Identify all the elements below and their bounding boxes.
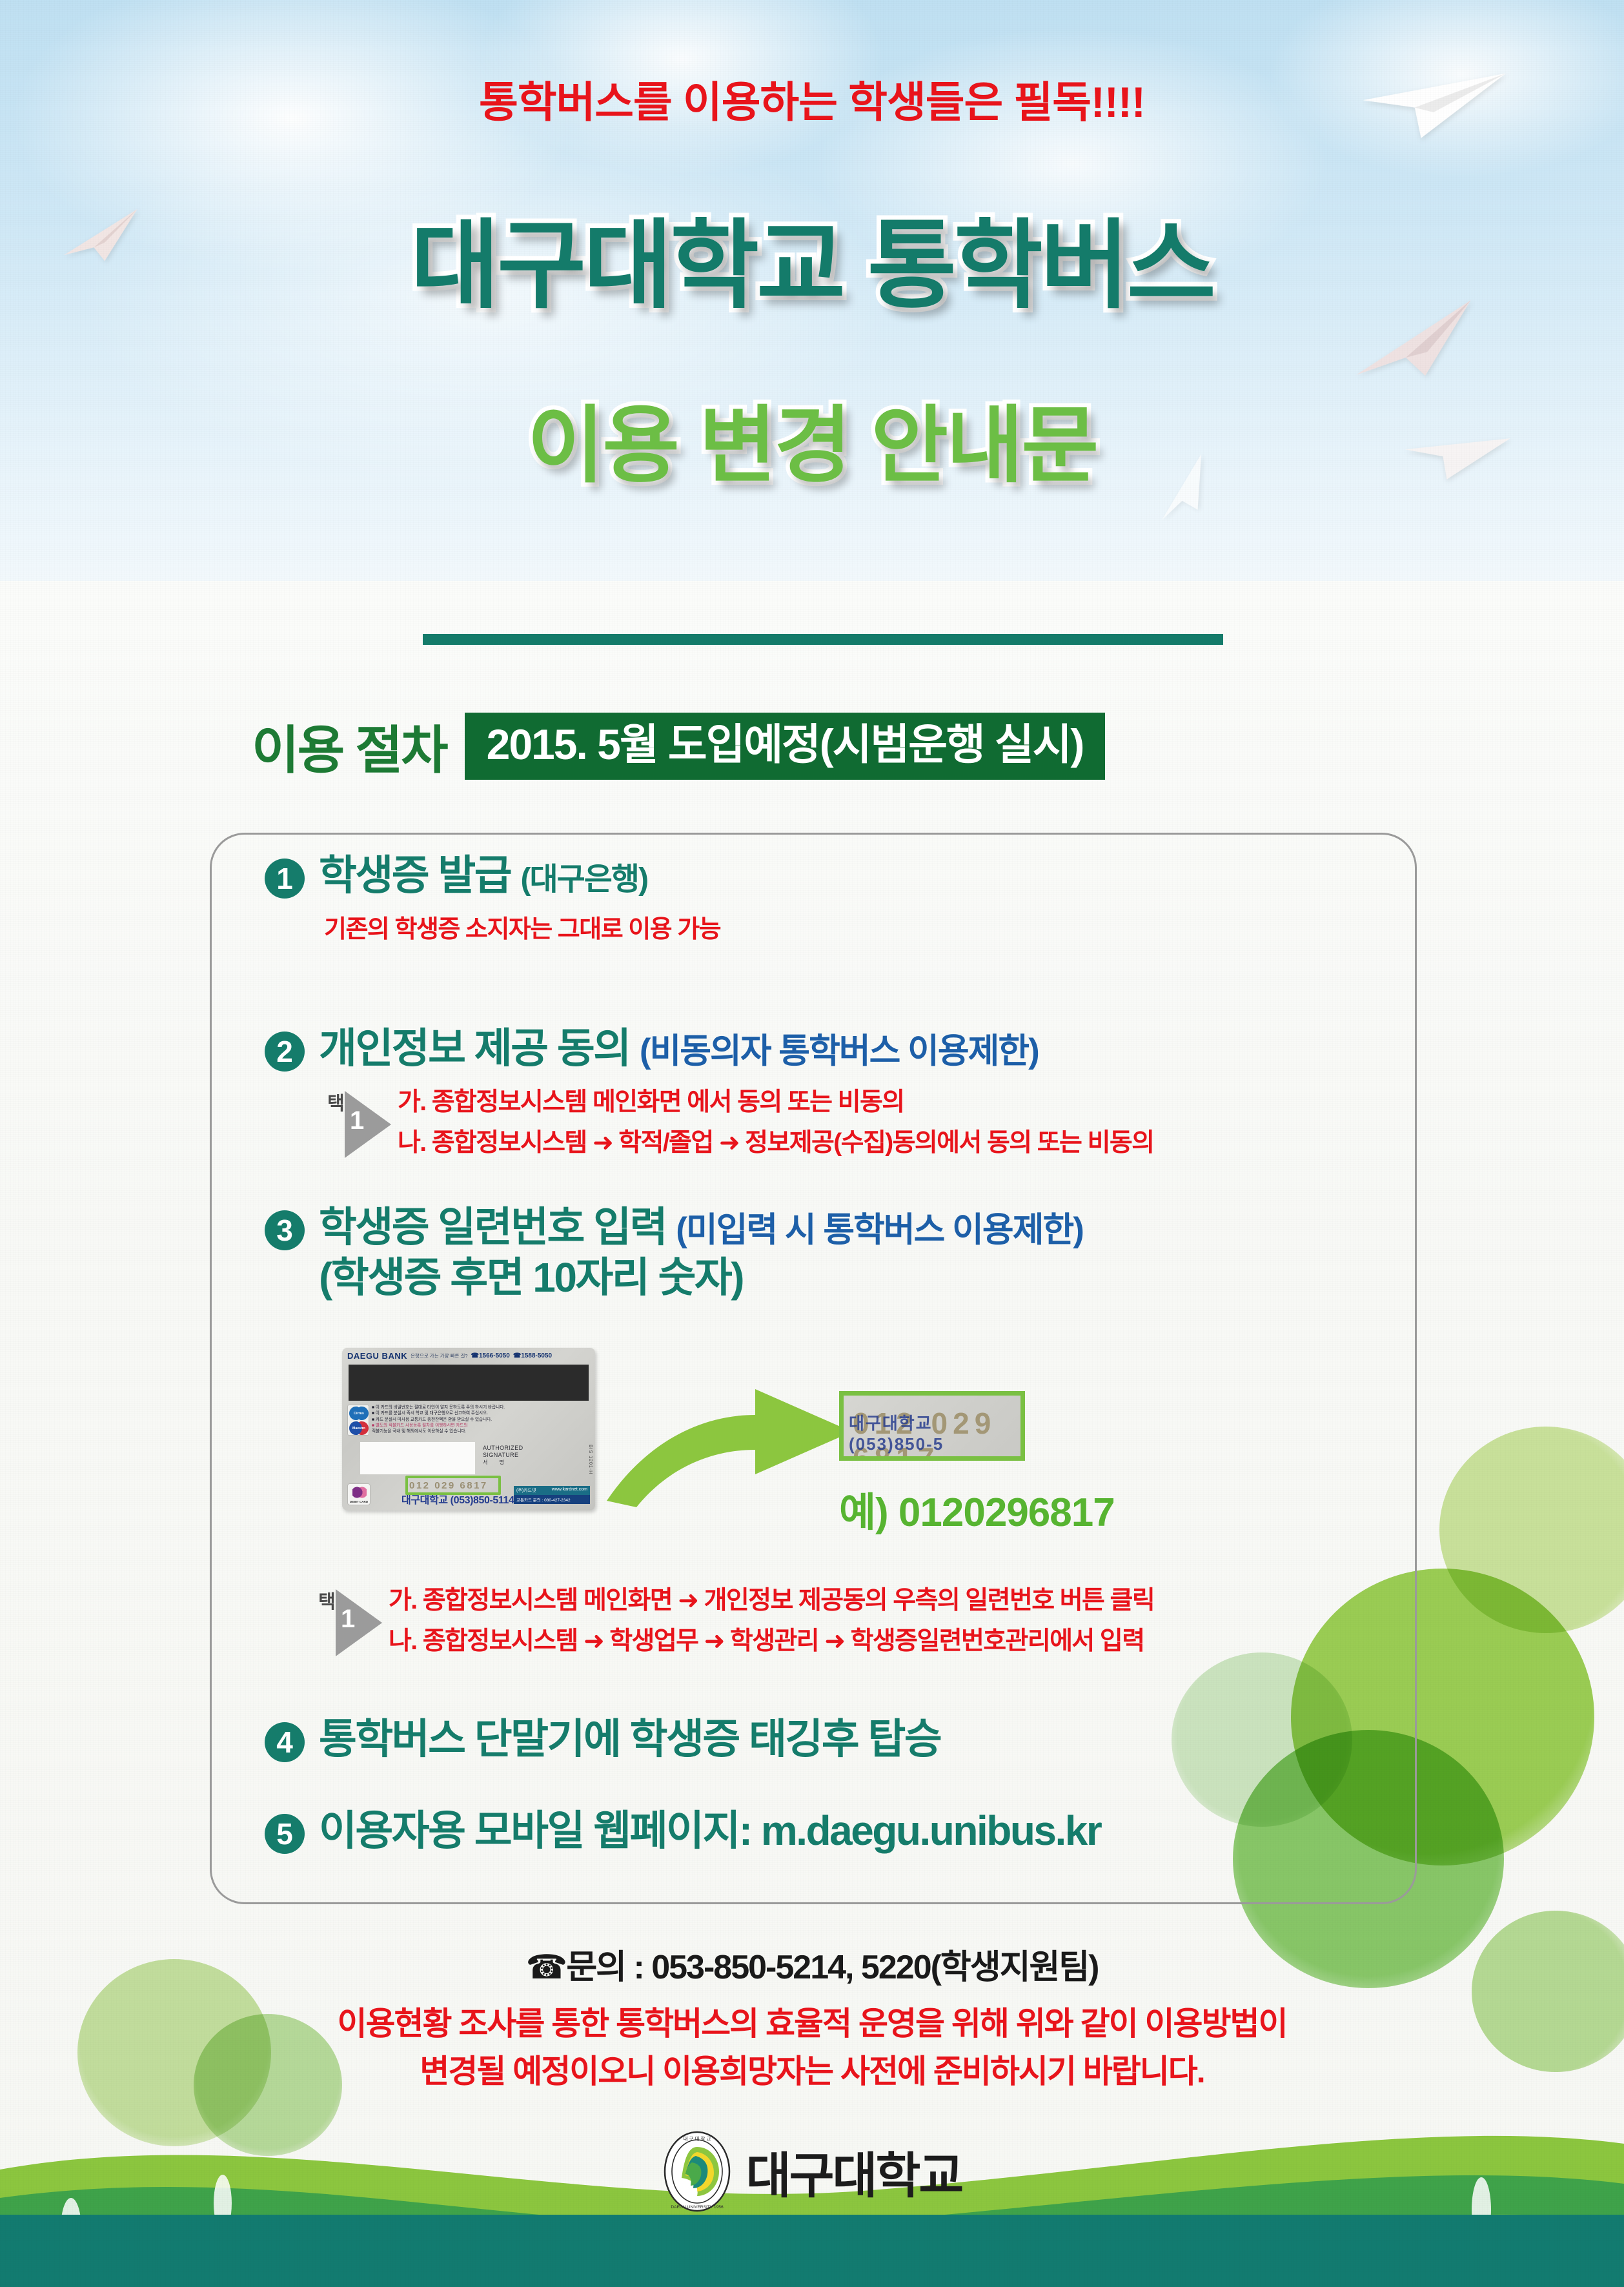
card-tel-2: ☎1588-5050 — [513, 1352, 552, 1359]
step-4-heading: 통학버스 단말기에 학생증 태깅후 탑승 — [319, 1716, 940, 1764]
step-number-badge: 5 — [265, 1814, 305, 1854]
authorized-signature-label: AUTHORIZED SIGNATURE 서 명 — [483, 1445, 523, 1466]
university-name: 대구대학교 — [746, 2136, 962, 2207]
cardnet-row-1: (주)카드넷 www.kardnet.com — [514, 1486, 590, 1495]
step-number-badge: 2 — [265, 1032, 305, 1072]
magnified-under-text: 대구대학교 (053)850-5 — [849, 1410, 1020, 1454]
serial-example-text: 예) 0120296817 — [839, 1479, 1115, 1538]
step-3-paren: (미입력 시 통학버스 이용제한) — [676, 1211, 1083, 1249]
cardnet-row-2: 교통카드 문의 : 080-427-2342 — [514, 1495, 590, 1504]
card-bis-code: BIS 1201-H — [588, 1445, 593, 1474]
notice-line-1: 이용현황 조사를 통한 통학버스의 효율적 운영을 위해 위와 같이 이용방법이 — [0, 2000, 1624, 2048]
card-bank-name: DAEGU BANK — [347, 1351, 407, 1361]
green-arrow-icon — [594, 1356, 865, 1510]
section-badge: 2015. 5월 도입예정(시범운행 실시) — [465, 713, 1106, 780]
step-2-paren: (비동의자 통학버스 이용제한) — [640, 1032, 1039, 1070]
card-header: DAEGU BANK 은행으로 가는 가장 빠른 길? ☎1566-5050 ☎… — [342, 1348, 595, 1363]
university-emblem-icon: 대 구 대 학 교 DAEGU UNIVERSITY 1956 — [662, 2130, 732, 2213]
debit-mark-icon — [352, 1487, 367, 1498]
section-header: 이용 절차 2015. 5월 도입예정(시범운행 실시) — [252, 709, 1105, 784]
svg-text:대 구 대 학 교: 대 구 대 학 교 — [683, 2135, 711, 2142]
page-title: 대구대학교 통학버스 — [0, 213, 1624, 318]
notice-line-2: 변경될 예정이오니 이용희망자는 사전에 준비하시기 바랍니다. — [0, 2048, 1624, 2095]
step-number-badge: 1 — [265, 859, 305, 899]
step-3-option-b: 나. 종합정보시스템 ➜ 학생업무 ➜ 학생관리 ➜ 학생증일련번호관리에서 입… — [389, 1627, 1154, 1656]
serial-highlight-box — [405, 1476, 501, 1495]
card-notes: ■ 이 카드의 비밀번호는 절대로 타인이 알지 못하도록 주의 하시기 바랍니… — [372, 1405, 546, 1435]
pick-number: 1 — [341, 1605, 355, 1634]
step-3: 3 학생증 일련번호 입력 (미입력 시 통학버스 이용제한) (학생증 후면 … — [265, 1204, 1083, 1301]
step-2-heading: 개인정보 제공 동의 (비동의자 통학버스 이용제한) — [319, 1025, 1153, 1073]
step-2-option-a: 가. 종합정보시스템 메인화면 에서 동의 또는 비동의 — [398, 1088, 1153, 1117]
university-logo-row: 대 구 대 학 교 DAEGU UNIVERSITY 1956 대구대학교 — [0, 2130, 1624, 2213]
svg-text:DAEGU UNIVERSITY 1956: DAEGU UNIVERSITY 1956 — [671, 2205, 724, 2210]
step-3-heading: 학생증 일련번호 입력 (미입력 시 통학버스 이용제한) — [319, 1204, 1083, 1252]
signature-panel — [360, 1442, 475, 1474]
card-slogan: 은행으로 가는 가장 빠른 길? — [411, 1352, 467, 1359]
card-tel-1: ☎1566-5050 — [471, 1352, 510, 1359]
maestro-icon: Maestro — [349, 1421, 369, 1435]
serial-magnified-box: 012 029 6817 대구대학교 (053)850-5 — [839, 1391, 1025, 1461]
card-note-line: ■ 이 카드의 비밀번호는 절대로 타인이 알지 못하도록 주의 하시기 바랍니… — [372, 1405, 546, 1410]
kicker-text: 통학버스를 이용하는 학생들은 필독!!!! — [0, 68, 1624, 130]
step-number-badge: 3 — [265, 1210, 305, 1250]
card-back: DAEGU BANK 은행으로 가는 가장 빠른 길? ☎1566-5050 ☎… — [342, 1348, 595, 1510]
step-1-note: 기존의 학생증 소지자는 그대로 이용 가능 — [324, 909, 720, 944]
pick-label: 택 — [314, 1593, 340, 1612]
pick-one-marker: 택 1 — [319, 1084, 391, 1162]
card-note-line: ■ 별도의 직불카드 사용등록 절차를 이행하시면 카드의 — [372, 1423, 546, 1428]
card-note-line: ■ 카드 분실시 미사용 교통카드 충전잔액은 환불 받으실 수 있습니다. — [372, 1417, 546, 1423]
step-1: 1 학생증 발급 (대구은행) 기존의 학생증 소지자는 그대로 이용 가능 — [265, 852, 720, 944]
card-network-logos: Cirrus Maestro — [347, 1405, 369, 1436]
step-4: 4 통학버스 단말기에 학생증 태깅후 탑승 — [265, 1716, 940, 1764]
step-2-option-b: 나. 종합정보시스템 ➜ 학적/졸업 ➜ 정보제공(수집)동의에서 동의 또는 … — [398, 1129, 1153, 1158]
step-2: 2 개인정보 제공 동의 (비동의자 통학버스 이용제한) 택 1 가. 종합정… — [265, 1025, 1153, 1162]
card-note-line: 직불기능을 국내 및 해외에서도 이용하실 수 있습니다. — [372, 1428, 546, 1434]
pick-one-marker: 택 1 — [310, 1583, 382, 1660]
cirrus-icon: Cirrus — [349, 1407, 369, 1420]
pick-number: 1 — [350, 1106, 364, 1135]
footer-color-bar — [0, 2215, 1624, 2287]
step-1-paren: (대구은행) — [520, 862, 647, 897]
title-divider — [423, 634, 1223, 645]
section-label: 이용 절차 — [252, 709, 447, 784]
student-card-image: DAEGU BANK 은행으로 가는 가장 빠른 길? ☎1566-5050 ☎… — [342, 1348, 595, 1510]
page-subtitle: 이용 변경 안내문 — [0, 400, 1624, 491]
pick-label: 택 — [323, 1095, 349, 1113]
notice-text: 이용현황 조사를 통한 통학버스의 효율적 운영을 위해 위와 같이 이용방법이… — [0, 2000, 1624, 2095]
step-number-badge: 4 — [265, 1722, 305, 1762]
card-note-line: ■ 이 카드를 분실시 즉시 학교 및 대구은행으로 신고하여 주십시오. — [372, 1410, 546, 1416]
contact-line: ☎문의 : 053-850-5214, 5220(학생지원팀) — [0, 1940, 1624, 1988]
step-3-options: 택 1 가. 종합정보시스템 메인화면 ➜ 개인정보 제공동의 우측의 일련번호… — [310, 1583, 1154, 1660]
debit-card-logo: DEBIT CARD — [347, 1483, 370, 1505]
poster-canvas: 통학버스를 이용하는 학생들은 필독!!!! 대구대학교 통학버스 이용 변경 … — [0, 0, 1624, 2287]
cardnet-block: (주)카드넷 www.kardnet.com 교통카드 문의 : 080-427… — [514, 1486, 590, 1504]
magnetic-stripe — [349, 1365, 589, 1401]
step-3-option-a: 가. 종합정보시스템 메인화면 ➜ 개인정보 제공동의 우측의 일련번호 버튼 … — [389, 1587, 1154, 1616]
step-3-subheading: (학생증 후면 10자리 숫자) — [319, 1254, 1083, 1302]
step-1-heading: 학생증 발급 (대구은행) — [319, 852, 720, 900]
step-5-heading: 이용자용 모바일 웹페이지: m.daegu.unibus.kr — [319, 1807, 1101, 1855]
step-5: 5 이용자용 모바일 웹페이지: m.daegu.unibus.kr — [265, 1807, 1101, 1855]
